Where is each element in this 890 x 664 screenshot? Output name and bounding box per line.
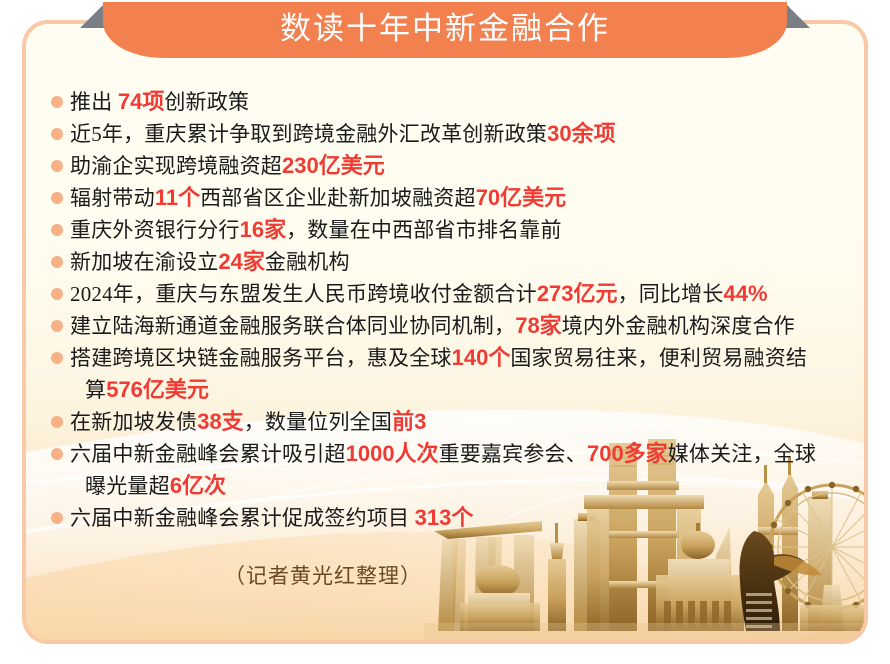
bullet-slot — [44, 246, 70, 278]
domed-civic-building — [656, 523, 744, 631]
bullet-slot — [44, 438, 70, 470]
highlight-figure: 230亿美元 — [282, 153, 385, 178]
highlight-figure: 6亿次 — [170, 473, 226, 498]
list-item-text: 搭建跨境区块链金融服务平台，惠及全球140个国家贸易往来，便利贸易融资结 — [70, 342, 807, 374]
bullet-slot — [44, 86, 70, 118]
list-item: 在新加坡发债38支，数量位列全国前3 — [44, 406, 864, 438]
sail-tower — [712, 527, 732, 631]
bullet-slot — [44, 182, 70, 214]
highlight-figure: 1000人次 — [346, 441, 439, 466]
bullet-slot — [44, 470, 70, 502]
text-segment: 辐射带动 — [70, 186, 155, 210]
statistics-list: 推出 74项创新政策近5年，重庆累计争取到跨境金融外汇改革创新政策30余项助渝企… — [44, 86, 864, 534]
list-item-text: 推出 74项创新政策 — [70, 86, 249, 118]
list-item-text: 曝光量超6亿次 — [70, 470, 226, 502]
text-segment: 六届中新金融峰会累计吸引超 — [70, 442, 346, 466]
ribbon-fold-right-icon — [784, 2, 810, 28]
highlight-figure: 70亿美元 — [476, 185, 566, 210]
list-item-text: 算576亿美元 — [70, 374, 209, 406]
text-segment: 重要嘉宾参会、 — [439, 442, 587, 466]
bullet-slot — [44, 150, 70, 182]
text-segment: 推出 — [70, 90, 118, 114]
list-item: 2024年，重庆与东盟发生人民币跨境收付金额合计273亿元，同比增长44% — [44, 278, 864, 310]
text-segment: 助渝企实现跨境融资超 — [70, 154, 282, 178]
bullet-dot-icon — [51, 320, 63, 332]
highlight-figure: 313个 — [415, 505, 474, 530]
list-item: 新加坡在渝设立24家金融机构 — [44, 246, 864, 278]
list-item-continuation: 算576亿美元 — [44, 374, 864, 406]
marina-bay-sands — [434, 521, 542, 631]
merlion-statue — [740, 531, 822, 631]
list-item: 建立陆海新通道金融服务联合体同业协同机制，78家境内外金融机构深度合作 — [44, 310, 864, 342]
list-item: 重庆外资银行分行16家，数量在中西部省市排名靠前 — [44, 214, 864, 246]
list-item-text: 六届中新金融峰会累计吸引超1000人次重要嘉宾参会、700多家媒体关注，全球 — [70, 438, 816, 470]
bullet-dot-icon — [51, 448, 63, 460]
text-segment: 重庆外资银行分行 — [70, 218, 240, 242]
text-segment: 新加坡在渝设立 — [70, 250, 218, 274]
bullet-slot — [44, 278, 70, 310]
list-item: 助渝企实现跨境融资超230亿美元 — [44, 150, 864, 182]
highlight-figure: 273亿元 — [537, 281, 618, 306]
title-ribbon-wrapper: 数读十年中新金融合作 — [0, 0, 890, 64]
highlight-figure: 140个 — [452, 345, 511, 370]
list-item-text: 辐射带动11个西部省区企业赴新加坡融资超70亿美元 — [70, 182, 566, 214]
highlight-figure: 700多家 — [587, 441, 668, 466]
list-item: 搭建跨境区块链金融服务平台，惠及全球140个国家贸易往来，便利贸易融资结 — [44, 342, 864, 374]
highlight-figure: 78家 — [515, 313, 561, 338]
bullet-slot — [44, 214, 70, 246]
list-item-text: 建立陆海新通道金融服务联合体同业协同机制，78家境内外金融机构深度合作 — [70, 310, 795, 342]
text-segment: 媒体关注，全球 — [668, 442, 816, 466]
bullet-slot — [44, 374, 70, 406]
text-segment: 六届中新金融峰会累计促成签约项目 — [70, 506, 415, 530]
text-segment: 境内外金融机构深度合作 — [562, 314, 795, 338]
bullet-dot-icon — [51, 224, 63, 236]
highlight-figure: 24家 — [218, 249, 264, 274]
bullet-dot-icon — [51, 192, 63, 204]
bullet-dot-icon — [51, 512, 63, 524]
bullet-dot-icon — [51, 96, 63, 108]
text-segment: ，同比增长 — [618, 282, 724, 306]
text-segment: ，数量位列全国 — [244, 410, 392, 434]
bullet-dot-icon — [51, 416, 63, 428]
highlight-figure: 30余项 — [547, 121, 615, 146]
bullet-slot — [44, 502, 70, 534]
infographic-poster: 推出 74项创新政策近5年，重庆累计争取到跨境金融外汇改革创新政策30余项助渝企… — [0, 0, 890, 664]
list-item-text: 六届中新金融峰会累计促成签约项目 313个 — [70, 502, 473, 534]
text-segment: 近5年，重庆累计争取到跨境金融外汇改革创新政策 — [70, 122, 547, 146]
highlight-figure: 16家 — [240, 217, 286, 242]
text-segment: 在新加坡发债 — [70, 410, 197, 434]
bullet-dot-icon — [51, 128, 63, 140]
list-item: 六届中新金融峰会累计吸引超1000人次重要嘉宾参会、700多家媒体关注，全球 — [44, 438, 864, 470]
text-segment: 曝光量超 — [85, 474, 170, 498]
list-item: 近5年，重庆累计争取到跨境金融外汇改革创新政策30余项 — [44, 118, 864, 150]
text-segment: 创新政策 — [164, 90, 249, 114]
bullet-dot-icon — [51, 256, 63, 268]
bullet-slot — [44, 310, 70, 342]
highlight-figure: 44% — [724, 281, 768, 306]
spire-tower — [548, 523, 566, 631]
byline: （记者黄光红整理） — [224, 560, 422, 590]
highlight-figure: 前3 — [392, 409, 426, 434]
list-item: 推出 74项创新政策 — [44, 86, 864, 118]
bullet-slot — [44, 406, 70, 438]
text-segment: 国家贸易往来，便利贸易融资结 — [510, 346, 807, 370]
list-item-text: 2024年，重庆与东盟发生人民币跨境收付金额合计273亿元，同比增长44% — [70, 278, 768, 310]
list-item-text: 助渝企实现跨境融资超230亿美元 — [70, 150, 385, 182]
list-item-text: 重庆外资银行分行16家，数量在中西部省市排名靠前 — [70, 214, 562, 246]
bullet-dot-icon — [51, 288, 63, 300]
poster-card: 推出 74项创新政策近5年，重庆累计争取到跨境金融外汇改革创新政策30余项助渝企… — [22, 20, 868, 644]
list-item-continuation: 曝光量超6亿次 — [44, 470, 864, 502]
text-segment: 2024年，重庆与东盟发生人民币跨境收付金额合计 — [70, 282, 537, 306]
text-segment: 建立陆海新通道金融服务联合体同业协同机制， — [70, 314, 515, 338]
bullet-slot — [44, 118, 70, 150]
text-segment: 算 — [85, 378, 106, 402]
highlight-figure: 38支 — [197, 409, 243, 434]
bullet-dot-icon — [51, 160, 63, 172]
page-title: 数读十年中新金融合作 — [280, 13, 610, 48]
dome-pavilion-left — [460, 565, 540, 631]
list-item: 六届中新金融峰会累计促成签约项目 313个 — [44, 502, 864, 534]
highlight-figure: 74项 — [118, 89, 164, 114]
list-item-text: 近5年，重庆累计争取到跨境金融外汇改革创新政策30余项 — [70, 118, 616, 150]
text-segment: ，数量在中西部省市排名靠前 — [286, 218, 562, 242]
list-item: 辐射带动11个西部省区企业赴新加坡融资超70亿美元 — [44, 182, 864, 214]
list-item-text: 新加坡在渝设立24家金融机构 — [70, 246, 350, 278]
title-ribbon: 数读十年中新金融合作 — [103, 2, 787, 58]
text-segment: 金融机构 — [265, 250, 350, 274]
highlight-figure: 576亿美元 — [106, 377, 209, 402]
bullet-slot — [44, 342, 70, 374]
highlight-figure: 11个 — [155, 185, 200, 210]
list-item-text: 在新加坡发债38支，数量位列全国前3 — [70, 406, 426, 438]
text-segment: 搭建跨境区块链金融服务平台，惠及全球 — [70, 346, 452, 370]
bullet-dot-icon — [51, 352, 63, 364]
text-segment: 西部省区企业赴新加坡融资超 — [200, 186, 476, 210]
